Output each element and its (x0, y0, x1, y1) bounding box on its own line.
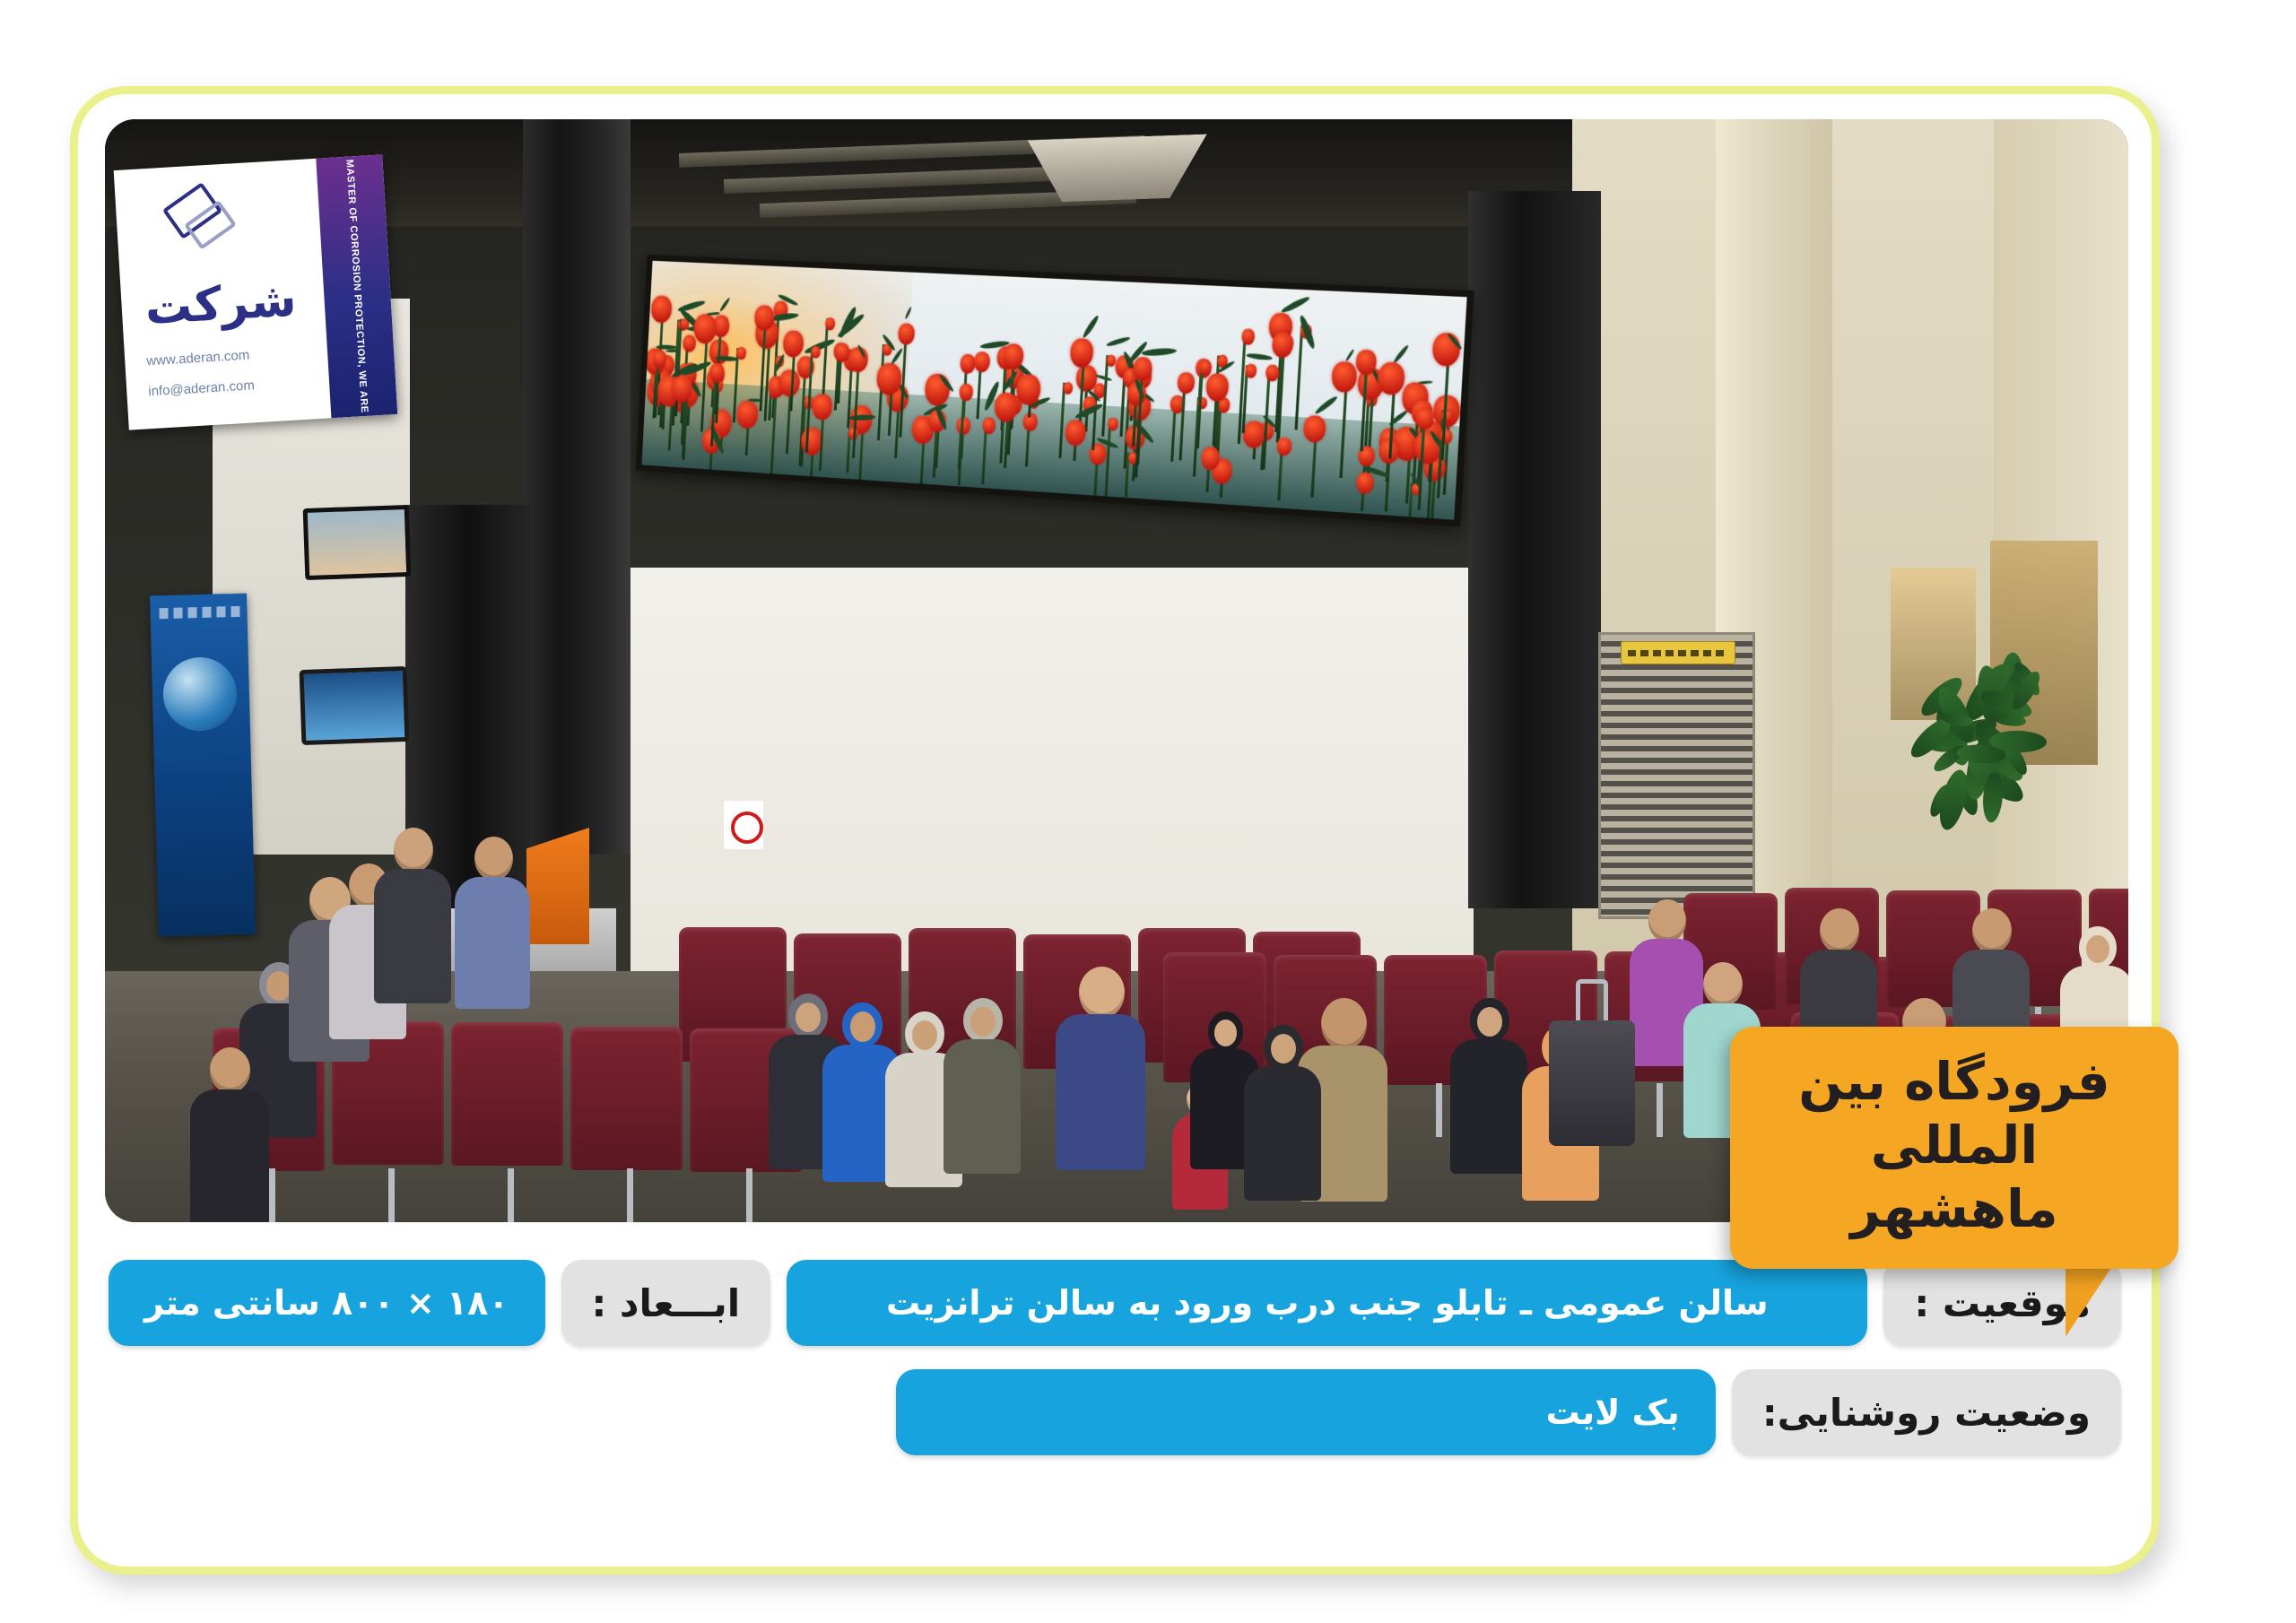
person-head (1079, 967, 1125, 1019)
person (944, 998, 1021, 1186)
row-spacer (109, 1369, 880, 1455)
person-head (1703, 962, 1743, 1007)
flower-bloom (1245, 363, 1257, 378)
rollup-banner-text (159, 606, 239, 619)
airport-name-line-1: فرودگاه بین المللی (1761, 1050, 2148, 1177)
flower-leaf (1106, 335, 1131, 347)
person (455, 837, 530, 1021)
no-smoking-sign (724, 801, 763, 849)
chair-leg (269, 1168, 275, 1222)
person-body (374, 869, 451, 1003)
chair-leg (746, 1168, 752, 1222)
waiting-chair (451, 1022, 563, 1166)
person-head (394, 828, 433, 872)
dimensions-label: ابـــعاد : (561, 1260, 771, 1346)
dimensions-group: ابـــعاد : ۱۸۰ × ۸۰۰ سانتی متر (109, 1260, 770, 1346)
flower-leaf (1280, 295, 1310, 315)
ad-banner-company: شرکت (143, 273, 298, 335)
person-face (1477, 1007, 1502, 1037)
flower-stem (1295, 325, 1304, 430)
airport-name-badge: فرودگاه بین المللی ماهشهر (1730, 1027, 2179, 1269)
chair-leg (1657, 1083, 1663, 1137)
person-head (1820, 908, 1859, 953)
waiting-chair (570, 1027, 683, 1170)
ad-banner-logo (151, 184, 263, 271)
directional-sign (1621, 641, 1735, 664)
person-face (970, 1007, 996, 1037)
person-face (266, 971, 291, 1001)
flower-bloom (1272, 332, 1294, 359)
person (374, 828, 451, 1016)
info-row-location-dimensions: موقعیت : سالن عمومی ـ تابلو جنب درب ورود… (109, 1260, 2121, 1346)
lighting-group: وضعیت روشنایی: بک لایت (896, 1369, 2121, 1455)
person-face (850, 1011, 876, 1042)
location-value: سالن عمومی ـ تابلو جنب درب ورود به سالن … (787, 1260, 1867, 1346)
airport-name-line-2: ماهشهر (1761, 1177, 2148, 1241)
person-face (1271, 1034, 1296, 1063)
flower-bloom (1331, 361, 1358, 394)
chair-leg (508, 1168, 514, 1222)
person-face (912, 1020, 937, 1050)
flower-leaf (1142, 347, 1178, 357)
dimensions-value: ۱۸۰ × ۸۰۰ سانتی متر (109, 1260, 545, 1346)
ad-banner-website: www.aderan.com (146, 348, 250, 369)
person-face (1214, 1020, 1237, 1046)
billboard-info-card: {} MASTER OF CORROSION PROTECTION, WE AR… (70, 86, 2160, 1575)
suitcase (1549, 1020, 1635, 1146)
flower-bloom (1064, 382, 1074, 395)
flower-bloom (1070, 337, 1094, 368)
person-body (1450, 1039, 1527, 1174)
info-row-lighting: وضعیت روشنایی: بک لایت (109, 1369, 2121, 1455)
flower-leaf (1344, 349, 1354, 362)
suitcase-handle (1576, 979, 1608, 1020)
person (1244, 1025, 1321, 1213)
person (1450, 998, 1527, 1186)
person-head (1972, 908, 2012, 953)
flower-leaf (1247, 352, 1274, 360)
ad-banner: MASTER OF CORROSION PROTECTION, WE ARE ش… (114, 154, 398, 430)
page-root: {} MASTER OF CORROSION PROTECTION, WE AR… (0, 0, 2296, 1623)
person-head (1321, 998, 1367, 1050)
flight-monitor (300, 666, 410, 745)
person-face (2086, 935, 2110, 963)
person (1056, 967, 1145, 1185)
location-group: موقعیت : سالن عمومی ـ تابلو جنب درب ورود… (787, 1260, 2121, 1346)
rollup-banner-graphic (162, 656, 238, 732)
flower-leaf (1418, 381, 1432, 385)
person-body (1244, 1066, 1321, 1201)
led-billboard: {} (636, 255, 1474, 527)
person-body (455, 877, 530, 1009)
flower-bloom (1378, 362, 1406, 396)
marble-column (1468, 191, 1601, 908)
flower-leaf (1392, 344, 1410, 364)
flower-bloom (898, 323, 916, 345)
chair-leg (1436, 1083, 1442, 1137)
rollup-banner (150, 594, 256, 937)
flight-monitor (303, 505, 412, 580)
person-head (210, 1047, 250, 1093)
person-face (796, 1002, 821, 1032)
person-head (1648, 899, 1686, 942)
flower-bloom (973, 352, 990, 373)
person-head (474, 837, 513, 881)
info-section: موقعیت : سالن عمومی ـ تابلو جنب درب ورود… (109, 1260, 2121, 1547)
ad-banner-slogan: MASTER OF CORROSION PROTECTION, WE ARE (344, 160, 370, 414)
chair-leg (627, 1168, 633, 1222)
person-body (944, 1039, 1021, 1174)
marble-column (523, 119, 631, 855)
person (190, 1047, 269, 1222)
ad-banner-email: info@aderan.com (148, 378, 255, 399)
person-body (190, 1089, 269, 1222)
wall-vent (1598, 632, 1755, 919)
lighting-label: وضعیت روشنایی: (1732, 1369, 2121, 1455)
flower-bloom (1200, 447, 1220, 471)
flower-leaf (1081, 314, 1100, 339)
flower-bloom (1241, 329, 1255, 346)
chair-leg (388, 1168, 395, 1222)
person-body (1056, 1014, 1145, 1170)
potted-plant (1903, 657, 2056, 837)
flower-leaf (1313, 395, 1338, 415)
flower-bloom (1177, 371, 1195, 394)
flower-bloom (1431, 333, 1461, 368)
lighting-value: بک لایت (896, 1369, 1716, 1455)
